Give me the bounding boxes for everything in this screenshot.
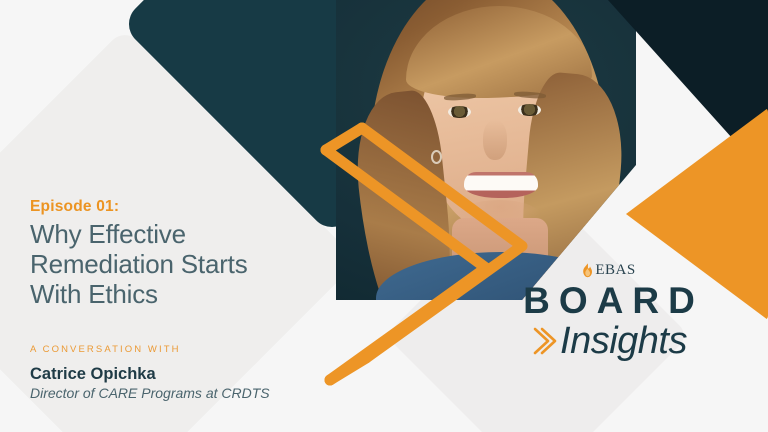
page-title: Why Effective Remediation Starts With Et… (30, 219, 330, 309)
guest-role: Director of CARE Programs at CRDTS (30, 385, 350, 401)
ebas-logo: EBAS (494, 262, 724, 279)
episode-cover-canvas: Episode 01: Why Effective Remediation St… (0, 0, 768, 432)
conversation-label: A CONVERSATION WITH (30, 344, 350, 355)
portrait-eye-right (518, 104, 541, 116)
guest-credit-block: A CONVERSATION WITH Catrice Opichka Dire… (30, 344, 350, 401)
flame-icon (582, 263, 593, 278)
brand-lockup: EBAS BOARD Insights (494, 262, 724, 363)
portrait-eye-left (448, 106, 471, 118)
guest-name: Catrice Opichka (30, 365, 350, 384)
episode-eyebrow: Episode 01: (30, 198, 330, 216)
show-title-secondary: Insights (560, 319, 687, 363)
headline-block: Episode 01: Why Effective Remediation St… (30, 198, 330, 309)
chevron-right-icon (531, 324, 557, 358)
show-title-primary: BOARD (494, 281, 724, 321)
show-title-secondary-row: Insights (494, 319, 724, 363)
ebas-wordmark: EBAS (595, 262, 635, 279)
